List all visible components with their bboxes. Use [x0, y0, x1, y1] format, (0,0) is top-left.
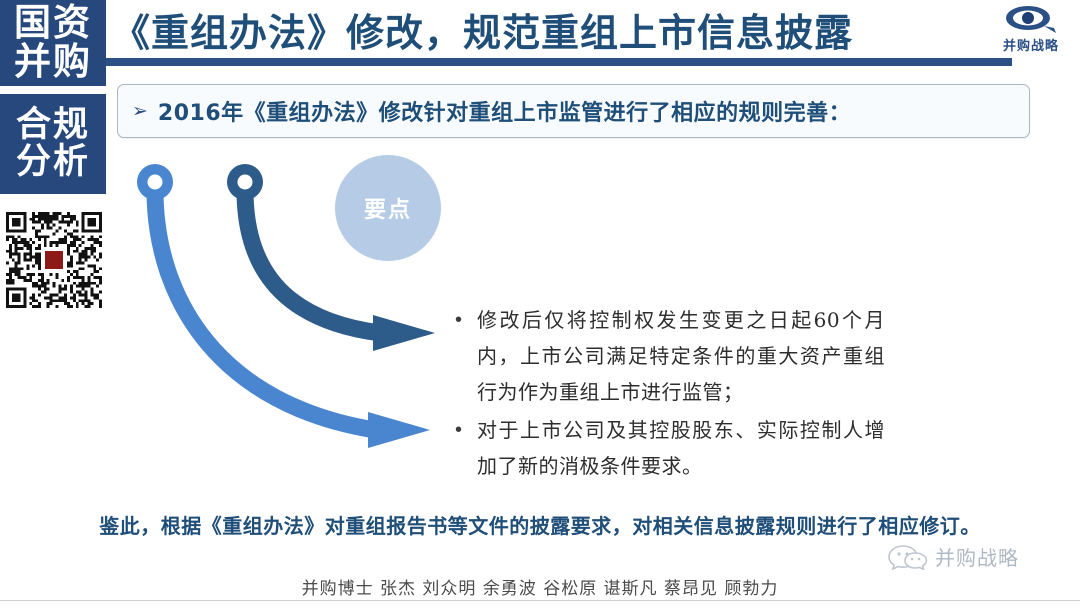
- bullet-item: • 修改后仅将控制权发生变更之日起60个月内，上市公司满足特定条件的重大资产重组…: [455, 302, 885, 410]
- slide-canvas: 国资 并购 合规 分析 《重组办法》修改，规范重组上市信息披露 并购战略 ➢ 2…: [0, 0, 1080, 608]
- bullet-text: 对于上市公司及其控股股东、实际控制人增加了新的消极条件要求。: [477, 412, 885, 484]
- callout-text: 2016年《重组办法》修改针对重组上市监管进行了相应的规则完善：: [158, 95, 851, 127]
- conclusion-text: 鉴此，根据《重组办法》对重组报告书等文件的披露要求，对相关信息披露规则进行了相应…: [0, 510, 1080, 539]
- wechat-icon: [888, 544, 928, 570]
- title-underline-bar: [106, 58, 1012, 66]
- watermark-label: 并购战略: [935, 542, 1019, 571]
- sidebar-tab-line-2: 并购: [14, 43, 92, 82]
- footer-divider: [0, 600, 1080, 601]
- bullet-marker: •: [455, 412, 477, 448]
- eye-icon: [1004, 4, 1058, 34]
- chevron-right-icon: ➢: [132, 102, 148, 121]
- callout-box: ➢ 2016年《重组办法》修改针对重组上市监管进行了相应的规则完善：: [117, 84, 1030, 138]
- keypoint-circle: 要点: [335, 155, 441, 261]
- sidebar-tab-line-1: 国资: [14, 4, 92, 43]
- sidebar-tab-hegui-fenxi[interactable]: 合规 分析: [0, 94, 106, 194]
- brand-logo: 并购战略: [988, 4, 1074, 58]
- wechat-qr-code[interactable]: [6, 212, 102, 308]
- sidebar-tab-guozi-binggou[interactable]: 国资 并购: [0, 0, 106, 86]
- bullet-item: • 对于上市公司及其控股股东、实际控制人增加了新的消极条件要求。: [455, 412, 885, 484]
- sidebar-tab-line-2: 分析: [16, 144, 90, 181]
- wechat-watermark: 并购战略: [888, 542, 1019, 571]
- brand-name-label: 并购战略: [988, 35, 1074, 54]
- bullet-marker: •: [455, 302, 477, 338]
- sidebar-tab-line-1: 合规: [16, 107, 90, 144]
- bullet-text: 修改后仅将控制权发生变更之日起60个月内，上市公司满足特定条件的重大资产重组行为…: [477, 302, 885, 410]
- qr-center-logo-icon: [43, 249, 65, 271]
- page-title: 《重组办法》修改，规范重组上市信息披露: [112, 2, 992, 56]
- footer-authors: 并购博士 张杰 刘众明 余勇波 谷松原 谌斯凡 蔡昂见 顾勃力: [0, 574, 1080, 599]
